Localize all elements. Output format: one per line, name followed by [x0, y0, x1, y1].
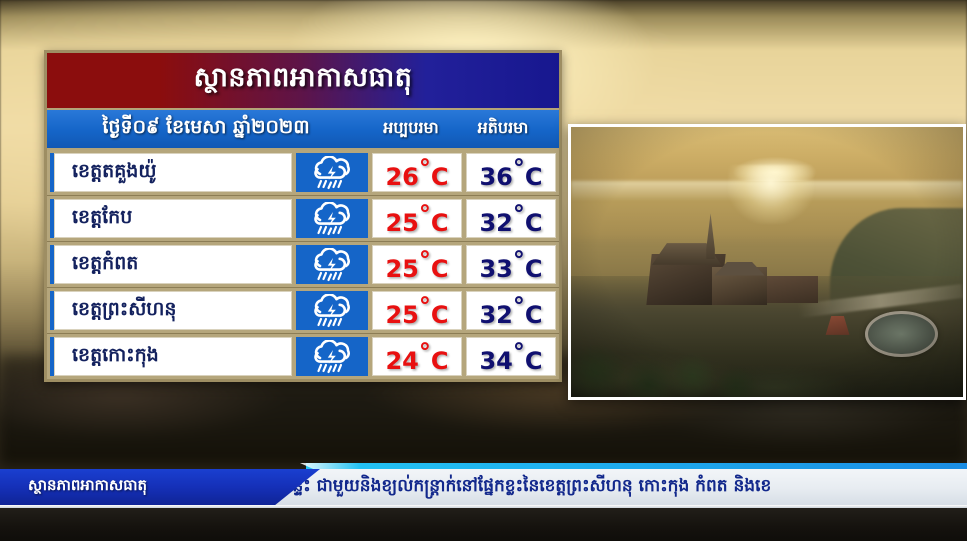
table-body: ខេត្តតគួងយ៉ូ26°C36°Cខេត្តកែប25°C32°Cខេត្…: [47, 150, 559, 379]
max-temp-value: 34°C: [479, 338, 542, 375]
cell-max-temp: 36°C: [466, 153, 556, 192]
photo-vignette: [571, 127, 963, 397]
min-temp-value: 25°C: [385, 292, 448, 329]
cell-max-temp: 32°C: [466, 199, 556, 238]
max-temp-value: 36°C: [479, 154, 542, 191]
cell-max-temp: 34°C: [466, 337, 556, 376]
province-label: ខេត្តព្រះសីហនុ: [54, 297, 176, 325]
cell-province: ខេត្តព្រះសីហនុ: [50, 291, 292, 330]
min-temp-value: 25°C: [385, 200, 448, 237]
thunderstorm-rain-icon: [309, 156, 355, 190]
header-col-min: អប្បបរមា: [365, 117, 457, 141]
cell-min-temp: 25°C: [372, 199, 462, 238]
ticker-badge: ស្ថានភាពអាកាសធាតុ: [0, 469, 320, 505]
background-bottom-band: [0, 506, 967, 541]
cell-province: ខេត្តកែប: [50, 199, 292, 238]
weather-table-panel: ស្ថានភាពអាកាសធាតុ ថ្ងៃទី០៩ ខែមេសា ឆ្នាំ២…: [44, 50, 562, 382]
max-temp-value: 32°C: [479, 200, 542, 237]
table-header-row: ថ្ងៃទី០៩ ខែមេសា ឆ្នាំ២០២៣ អប្បបរមា អតិបរ…: [47, 110, 559, 150]
cell-max-temp: 32°C: [466, 291, 556, 330]
cell-weather-icon: [296, 291, 368, 330]
cell-weather-icon: [296, 245, 368, 284]
min-temp-value: 25°C: [385, 246, 448, 283]
ticker-bottom-line: [0, 505, 967, 508]
cell-province: ខេត្តកំពត: [50, 245, 292, 284]
photo-frame: [568, 124, 966, 400]
cell-weather-icon: [296, 199, 368, 238]
cell-min-temp: 24°C: [372, 337, 462, 376]
table-row: ខេត្តកោះកុង24°C34°C: [47, 334, 559, 379]
max-temp-value: 33°C: [479, 246, 542, 283]
thunderstorm-rain-icon: [309, 340, 355, 374]
province-label: ខេត្តកែប: [54, 205, 132, 233]
max-temp-value: 32°C: [479, 292, 542, 329]
cell-min-temp: 25°C: [372, 291, 462, 330]
broadcast-graphic: ស្ថានភាពអាកាសធាតុ ថ្ងៃទី០៩ ខែមេសា ឆ្នាំ២…: [0, 0, 967, 541]
ticker-badge-label: ស្ថានភាពអាកាសធាតុ: [0, 476, 147, 498]
header-col-max: អតិបរមា: [457, 117, 549, 141]
header-date: ថ្ងៃទី០៩ ខែមេសា ឆ្នាំ២០២៣: [47, 115, 365, 143]
cell-weather-icon: [296, 337, 368, 376]
province-label: ខេត្តកោះកុង: [54, 343, 159, 371]
min-temp-value: 26°C: [385, 154, 448, 191]
thunderstorm-rain-icon: [309, 248, 355, 282]
news-ticker: មានភ្លៀង ផ្គរ រន្ទះ ជាមួយនិងខ្យល់កន្ត្រា…: [0, 469, 967, 505]
cell-min-temp: 26°C: [372, 153, 462, 192]
table-row: ខេត្តតគួងយ៉ូ26°C36°C: [47, 150, 559, 196]
table-row: ខេត្តកំពត25°C33°C: [47, 242, 559, 288]
cell-min-temp: 25°C: [372, 245, 462, 284]
cell-weather-icon: [296, 153, 368, 192]
cell-province: ខេត្តតគួងយ៉ូ: [50, 153, 292, 192]
panel-title-bar: ស្ថានភាពអាកាសធាតុ: [47, 53, 559, 110]
cell-province: ខេត្តកោះកុង: [50, 337, 292, 376]
province-label: ខេត្តតគួងយ៉ូ: [54, 159, 156, 187]
province-label: ខេត្តកំពត: [54, 251, 138, 279]
page-title: ស្ថានភាពអាកាសធាតុ: [194, 61, 413, 100]
cell-max-temp: 33°C: [466, 245, 556, 284]
thunderstorm-rain-icon: [309, 294, 355, 328]
thunderstorm-rain-icon: [309, 202, 355, 236]
min-temp-value: 24°C: [385, 338, 448, 375]
table-row: ខេត្តកែប25°C32°C: [47, 196, 559, 242]
sunset-temple-photo: [571, 127, 963, 397]
table-row: ខេត្តព្រះសីហនុ25°C32°C: [47, 288, 559, 334]
